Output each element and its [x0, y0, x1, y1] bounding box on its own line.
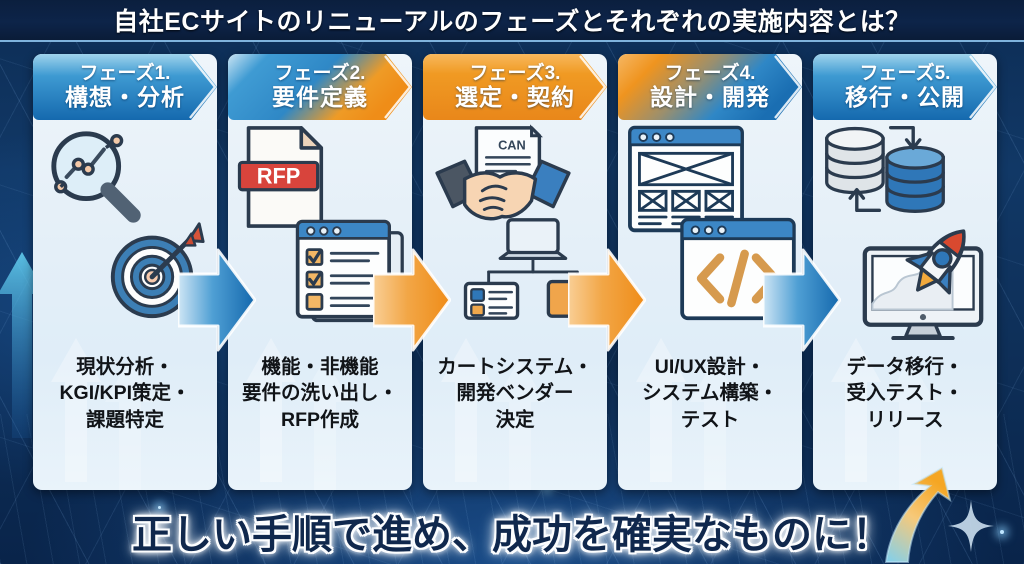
footer-banner: 正しい手順で進め、成功を確実なものに！: [0, 498, 1024, 564]
phase-caption-line: システム構築・: [624, 380, 796, 406]
arrow-phase3-to-phase4: [568, 248, 646, 352]
bottom-right-growth-arrow: [880, 466, 1000, 564]
phase-number: フェーズ3.: [470, 64, 561, 85]
phase-caption-line: カートシステム・: [429, 354, 601, 380]
phase-caption-2: 機能・非機能要件の洗い出し・RFP作成: [234, 354, 406, 433]
phase-caption-3: カートシステム・開発ベンダー決定: [429, 354, 601, 433]
phase-name: 構想・分析: [65, 85, 185, 110]
phase-caption-line: KGI/KPI策定・: [39, 380, 211, 406]
phase-caption-line: 受入テスト・: [819, 380, 991, 406]
icon-slot-bottom: [851, 216, 995, 345]
infographic-canvas: 自社ECサイトのリニューアルのフェーズとそれぞれの実施内容とは？ フェーズ1. …: [0, 0, 1024, 564]
phase-caption-line: 決定: [429, 407, 601, 433]
phase-caption-4: UI/UX設計・システム構築・テスト: [624, 354, 796, 433]
phase-caption-line: データ移行・: [819, 354, 991, 380]
phase-header-2: フェーズ2. 要件定義: [228, 54, 412, 120]
phase-name: 選定・契約: [455, 85, 575, 110]
phase-caption-line: 課題特定: [39, 407, 211, 433]
phase-caption-line: テスト: [624, 407, 796, 433]
phase-header-3: フェーズ3. 選定・契約: [423, 54, 607, 120]
page-title: 自社ECサイトのリニューアルのフェーズとそれぞれの実施内容とは？: [113, 2, 910, 38]
phase-number: フェーズ4.: [665, 64, 756, 85]
phase-number: フェーズ1.: [80, 64, 171, 85]
icon-slot-top: [819, 122, 951, 221]
arrow-phase1-to-phase2: [178, 248, 256, 352]
phase-header-4: フェーズ4. 設計・開発: [618, 54, 802, 120]
phase-number: フェーズ5.: [860, 64, 951, 85]
phase-caption-line: 現状分析・: [39, 354, 211, 380]
phase-name: 移行・公開: [845, 85, 965, 110]
phase-caption-5: データ移行・受入テスト・リリース: [819, 354, 991, 433]
phase-caption-line: 機能・非機能: [234, 354, 406, 380]
phase-caption-line: UI/UX設計・: [624, 354, 796, 380]
svg-text:RFP: RFP: [257, 163, 301, 188]
phase-name: 要件定義: [272, 85, 368, 110]
phase-caption-1: 現状分析・KGI/KPI策定・課題特定: [39, 354, 211, 433]
title-bar: 自社ECサイトのリニューアルのフェーズとそれぞれの実施内容とは？: [0, 0, 1024, 42]
phase-caption-line: 開発ベンダー: [429, 380, 601, 406]
footer-message: 正しい手順で進め、成功を確実なものに！: [132, 502, 892, 560]
phase-caption-line: リリース: [819, 407, 991, 433]
phase-caption-line: RFP作成: [234, 407, 406, 433]
phase-caption-line: 要件の洗い出し・: [234, 380, 406, 406]
arrow-phase4-to-phase5: [763, 248, 841, 352]
phase-number: フェーズ2.: [275, 64, 366, 85]
phase-header-5: フェーズ5. 移行・公開: [813, 54, 997, 120]
svg-text:CAN: CAN: [498, 138, 526, 153]
phase-header-1: フェーズ1. 構想・分析: [33, 54, 217, 120]
arrow-phase2-to-phase3: [373, 248, 451, 352]
rocket-monitor-icon: [851, 327, 995, 344]
phase-name: 設計・開発: [650, 85, 770, 110]
